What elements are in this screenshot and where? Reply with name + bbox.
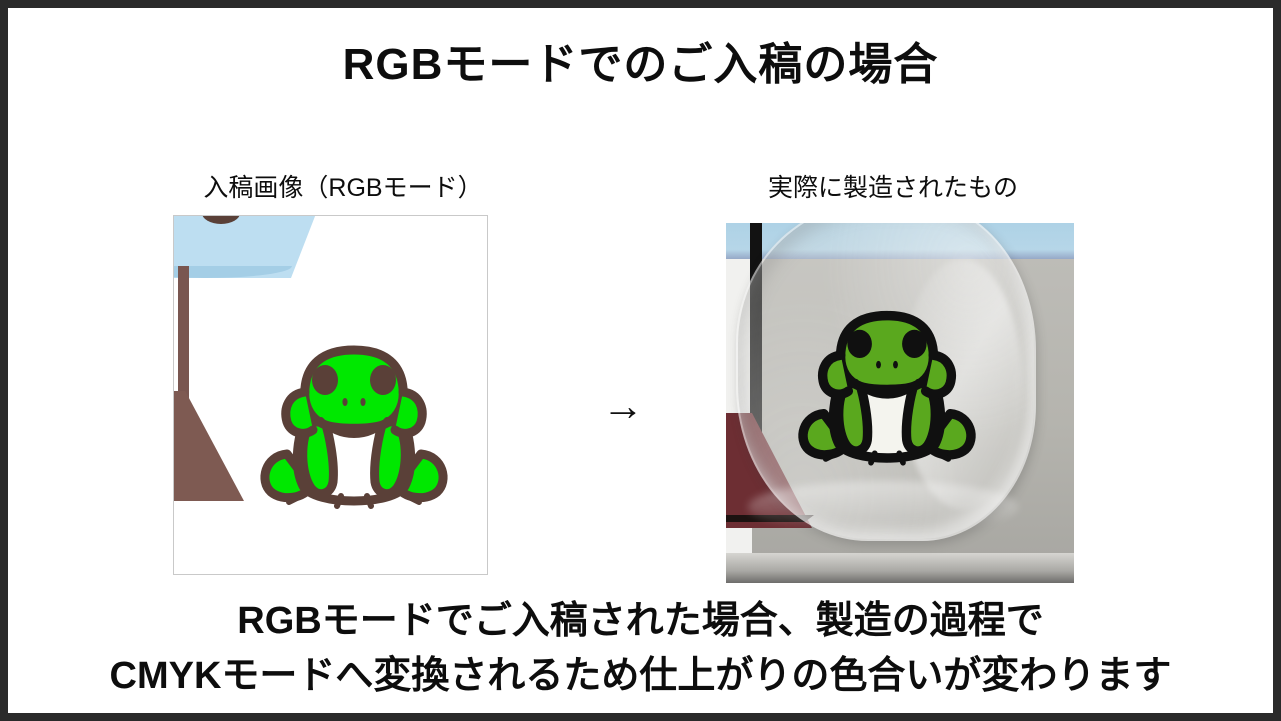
manufactured-product-photo bbox=[726, 223, 1074, 583]
caption-line-1: RGBモードでご入稿された場合、製造の過程で bbox=[8, 594, 1273, 649]
photo-floor-edge bbox=[726, 553, 1074, 583]
right-panel-caption: 実際に製造されたもの bbox=[653, 168, 1133, 204]
left-panel-caption: 入稿画像（RGBモード） bbox=[103, 168, 583, 204]
acrylic-bottom-highlight bbox=[748, 481, 1018, 533]
lamp-base-icon bbox=[173, 391, 244, 501]
slide-canvas: RGBモードでのご入稿の場合 入稿画像（RGBモード） bbox=[8, 8, 1273, 713]
transformation-arrow-icon: → bbox=[583, 380, 663, 432]
submitted-image-rgb bbox=[173, 215, 488, 575]
caption-line-2: CMYKモードへ変換されるため仕上がりの色合いが変わります bbox=[8, 649, 1273, 704]
frog-printed-icon bbox=[788, 301, 986, 483]
explanatory-caption: RGBモードでご入稿された場合、製造の過程で CMYKモードへ変換されるため仕上… bbox=[8, 594, 1273, 704]
frog-illustration-icon bbox=[249, 336, 459, 526]
page-title: RGBモードでのご入稿の場合 bbox=[8, 28, 1273, 92]
